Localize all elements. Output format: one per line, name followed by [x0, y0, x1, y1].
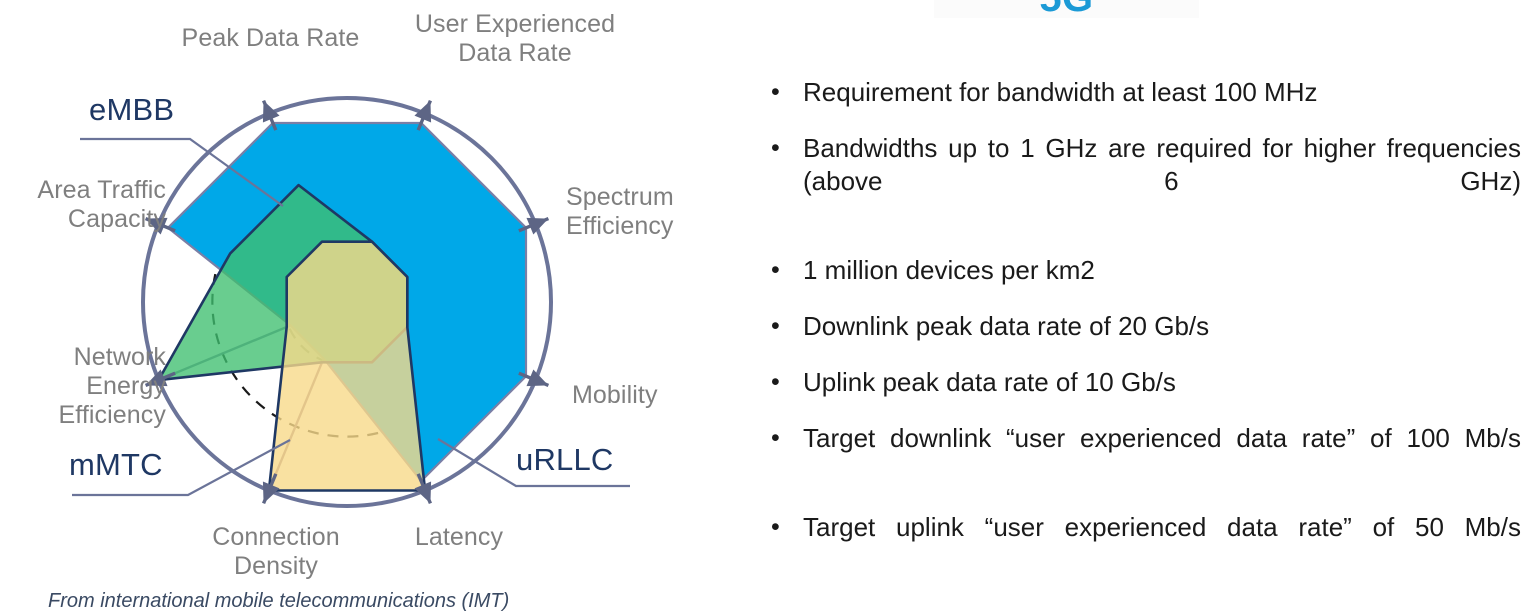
bullet-text: Downlink peak data rate of 20 Gb/s: [803, 310, 1521, 343]
bullet-marker-icon: •: [759, 366, 803, 399]
bullet-text: Bandwidths up to 1 GHz are required for …: [803, 132, 1521, 231]
bullet-item: •Target downlink “user experienced data …: [759, 422, 1521, 488]
bullet-item: •1 million devices per km2: [759, 254, 1521, 287]
panel-title: 5G: [934, 0, 1199, 18]
axis-label-mobility: Mobility: [572, 381, 742, 410]
bullet-marker-icon: •: [759, 254, 803, 287]
axis-label-connection-density: Connection Density: [186, 523, 366, 581]
usecase-label-urllc: uRLLC: [516, 443, 614, 477]
content-panel: 5G •Requirement for bandwidth at least 1…: [745, 0, 1531, 607]
bullet-marker-icon: •: [759, 310, 803, 343]
bullet-item: •Uplink peak data rate of 10 Gb/s: [759, 366, 1521, 399]
axis-label-network-energy-efficiency: Network Energy Efficiency: [0, 343, 166, 430]
radar-series-group: [159, 123, 527, 491]
slide-root: Peak Data Rate User Experienced Data Rat…: [0, 0, 1531, 607]
bullet-marker-icon: •: [759, 422, 803, 488]
radar-series-urllc: [269, 242, 425, 491]
bullet-marker-icon: •: [759, 76, 803, 109]
bullet-item: •Target uplink “user experienced data ra…: [759, 511, 1521, 577]
bullet-list: •Requirement for bandwidth at least 100 …: [759, 76, 1521, 600]
bullet-text: Target downlink “user experienced data r…: [803, 422, 1521, 488]
bullet-item: •Requirement for bandwidth at least 100 …: [759, 76, 1521, 109]
axis-label-spectrum-efficiency: Spectrum Efficiency: [566, 183, 756, 241]
usecase-label-mmtc: mMTC: [69, 448, 163, 482]
bullet-text: Requirement for bandwidth at least 100 M…: [803, 76, 1521, 109]
bullet-text: Uplink peak data rate of 10 Gb/s: [803, 366, 1521, 399]
usecase-label-embb: eMBB: [89, 93, 174, 127]
bullet-text: Target uplink “user experienced data rat…: [803, 511, 1521, 577]
axis-label-area-traffic-capacity: Area Traffic Capacity: [0, 176, 166, 234]
bullet-marker-icon: •: [759, 132, 803, 231]
bullet-marker-icon: •: [759, 511, 803, 577]
bullet-item: •Bandwidths up to 1 GHz are required for…: [759, 132, 1521, 231]
radar-figure: Peak Data Rate User Experienced Data Rat…: [0, 0, 740, 607]
axis-label-user-experienced-data-rate: User Experienced Data Rate: [390, 10, 640, 68]
bullet-item: •Downlink peak data rate of 20 Gb/s: [759, 310, 1521, 343]
axis-label-latency: Latency: [379, 523, 539, 552]
axis-label-peak-data-rate: Peak Data Rate: [153, 24, 388, 53]
figure-footnote: From international mobile telecommunicat…: [48, 590, 509, 613]
bullet-text: 1 million devices per km2: [803, 254, 1521, 287]
